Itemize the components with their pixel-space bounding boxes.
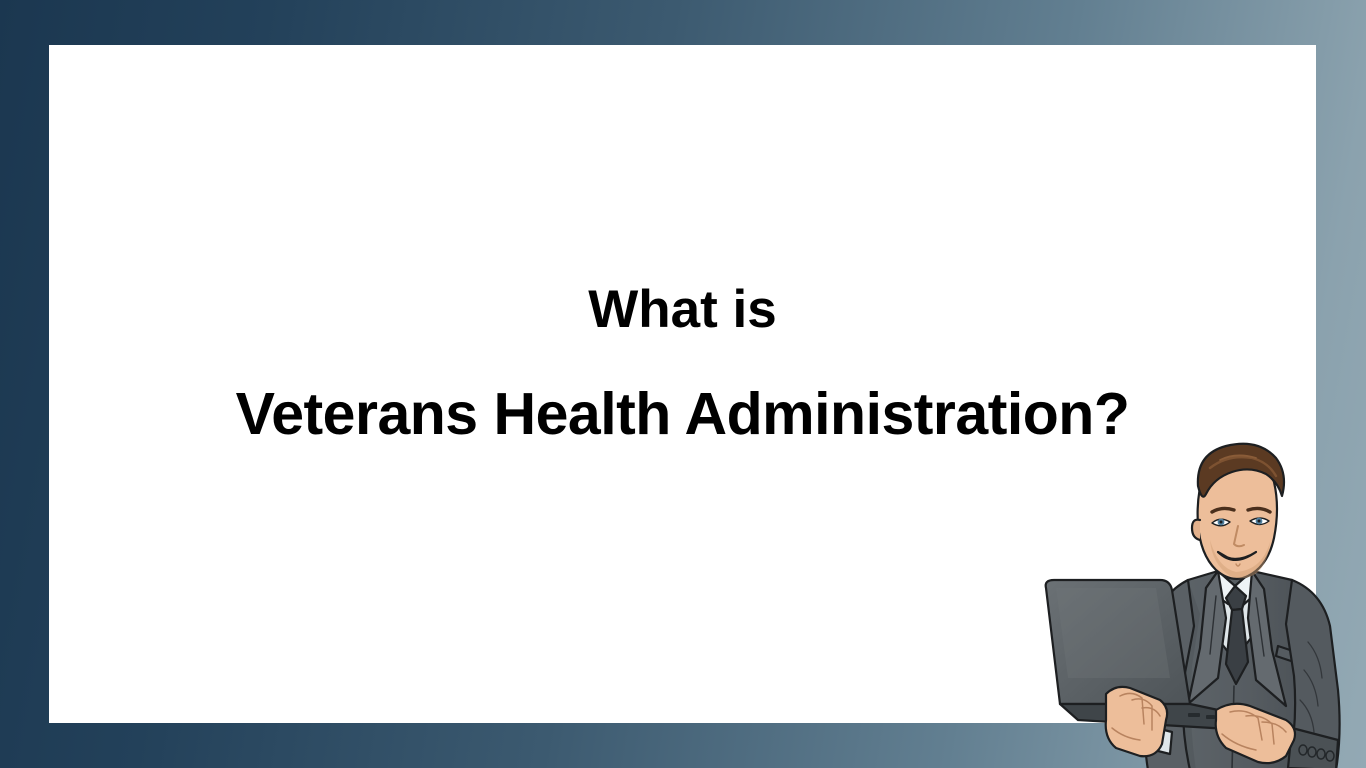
cuff-buttons <box>1299 745 1334 761</box>
title-block: What is Veterans Health Administration? <box>49 45 1316 723</box>
content-card: What is Veterans Health Administration? <box>49 45 1316 723</box>
title-line-2: Veterans Health Administration? <box>236 382 1130 447</box>
sleeve-cuff-right <box>1288 728 1338 768</box>
slide-root: What is Veterans Health Administration? <box>0 0 1366 768</box>
title-line-1: What is <box>588 281 776 339</box>
shirt-cuff-left <box>1138 724 1172 754</box>
